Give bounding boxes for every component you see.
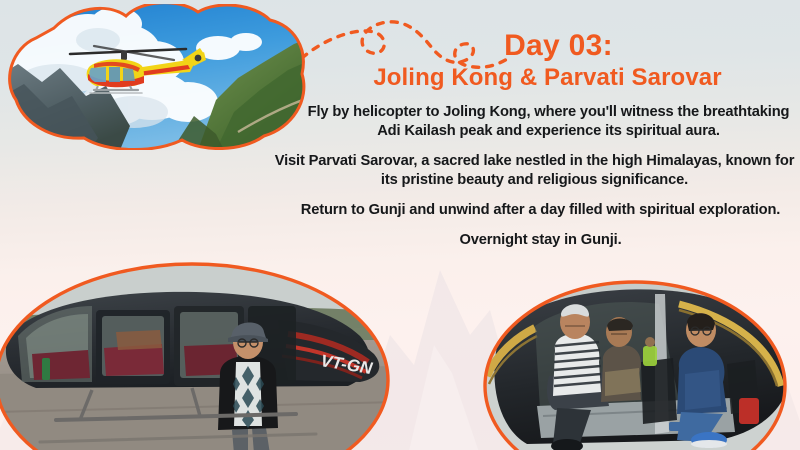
itinerary-card: VT-GN — [0, 0, 800, 450]
itinerary-paragraph-1: Fly by helicopter to Joling Kong, where … — [255, 103, 800, 141]
page-title-day: Day 03: — [255, 30, 800, 62]
itinerary-paragraph-2: Visit Parvati Sarovar, a sacred lake nes… — [255, 152, 800, 190]
text-column: Day 03: Joling Kong & Parvati Sarovar Fl… — [255, 30, 800, 251]
page-title-destinations: Joling Kong & Parvati Sarovar — [255, 65, 800, 91]
image-frame-passengers-in-cabin — [483, 280, 795, 450]
itinerary-paragraph-4: Overnight stay in Gunji. — [255, 231, 800, 250]
itinerary-paragraph-3: Return to Gunji and unwind after a day f… — [255, 201, 800, 220]
image-frame-man-with-helicopter: VT-GN — [0, 262, 396, 450]
